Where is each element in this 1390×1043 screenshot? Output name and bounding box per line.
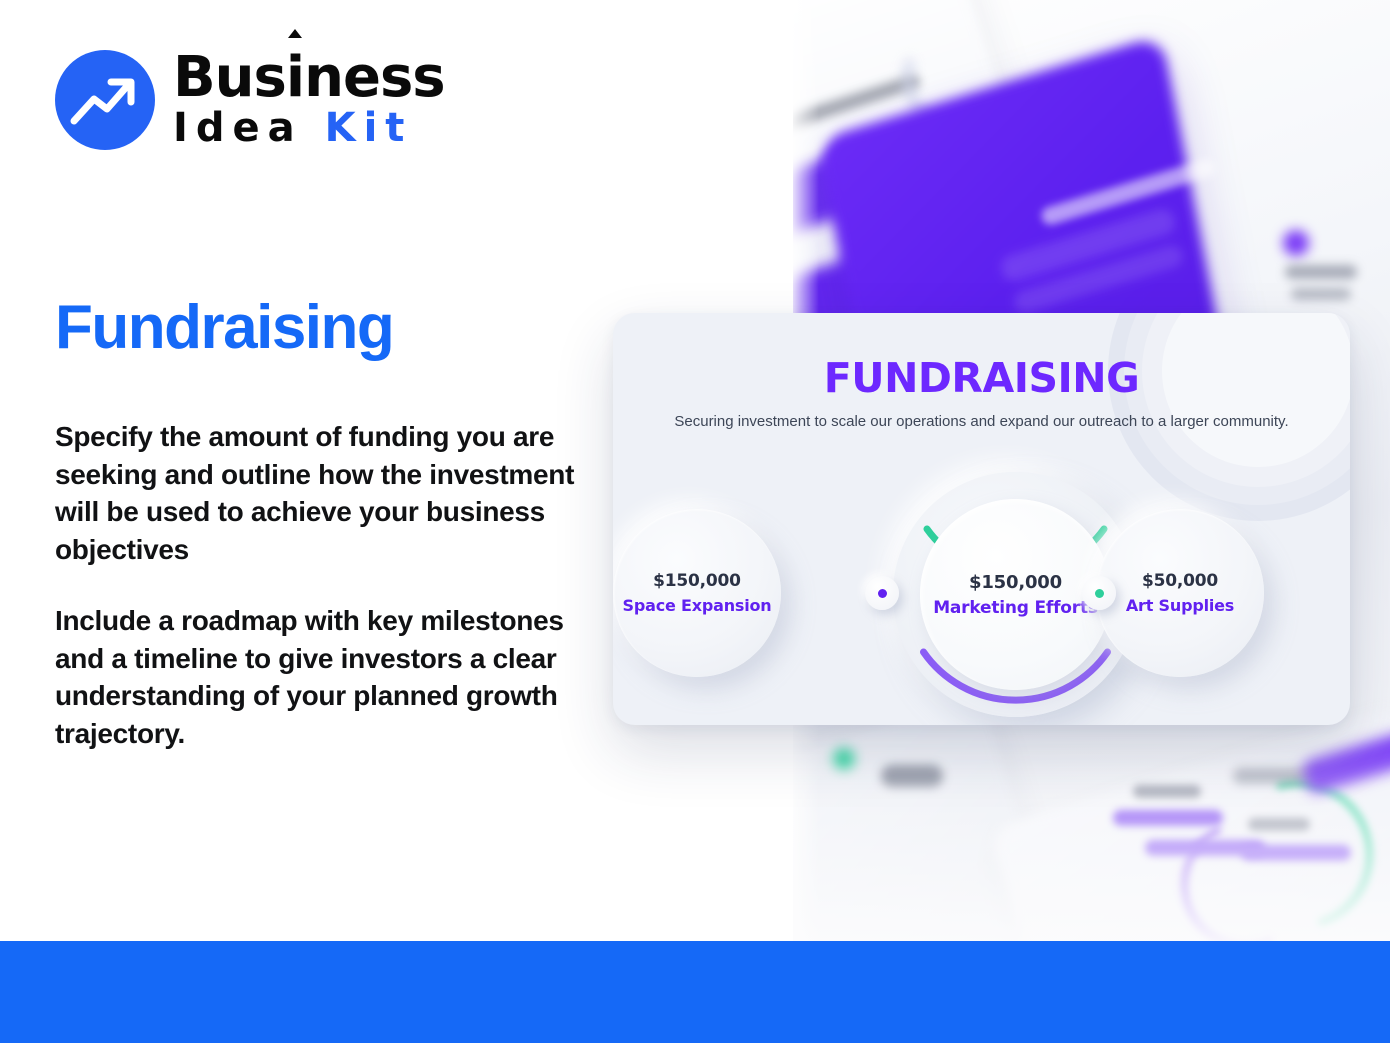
connector-left: [865, 576, 899, 610]
fund-label-left: Space Expansion: [623, 596, 772, 615]
brand-name-line2: Idea Kit: [173, 107, 445, 149]
fundraising-breakdown-diagram: $150,000 Space Expansion $150,000 Market…: [613, 473, 1350, 723]
connector-left-dot: [878, 589, 887, 598]
brand-logo[interactable]: Business Idea Kit: [55, 50, 445, 150]
growth-arrow-chart-icon: [55, 50, 155, 150]
fund-item-space-expansion[interactable]: $150,000 Space Expansion: [613, 509, 781, 677]
paragraph-1: Specify the amount of funding you are se…: [55, 418, 575, 568]
fund-label-center: Marketing Efforts: [933, 598, 1098, 618]
fund-amount-left: $150,000: [653, 571, 741, 591]
connector-right-dot: [1095, 589, 1104, 598]
fund-item-art-supplies[interactable]: $50,000 Art Supplies: [1096, 509, 1264, 677]
blurred-chip-r3: [1291, 288, 1351, 300]
photo-bottom-fade: [793, 741, 1390, 941]
brand-name-line1: Business: [173, 51, 445, 104]
fund-label-right: Art Supplies: [1126, 596, 1234, 615]
footer-bar: [0, 941, 1390, 1043]
body-copy: Specify the amount of funding you are se…: [55, 418, 575, 752]
brand-name-text: Business: [173, 45, 445, 110]
card-title: FUNDRAISING: [613, 354, 1350, 402]
blurred-chip-r2: [1285, 265, 1357, 279]
brand-wordmark: Business Idea Kit: [173, 51, 445, 148]
fundraising-card: FUNDRAISING Securing investment to scale…: [613, 313, 1350, 725]
connector-right: [1082, 576, 1116, 610]
paragraph-2: Include a roadmap with key milestones an…: [55, 602, 575, 752]
slide-page: Business Idea Kit Fundraising Specify th…: [0, 0, 1390, 1043]
page-title: Fundraising: [55, 295, 393, 360]
card-subtitle: Securing investment to scale our operati…: [613, 412, 1350, 433]
fund-amount-right: $50,000: [1142, 571, 1218, 591]
brand-name-kit: Kit: [325, 105, 413, 151]
brand-name-idea: Idea: [173, 105, 303, 151]
blurred-chip-r1: [1283, 230, 1309, 256]
fund-amount-center: $150,000: [969, 572, 1062, 593]
